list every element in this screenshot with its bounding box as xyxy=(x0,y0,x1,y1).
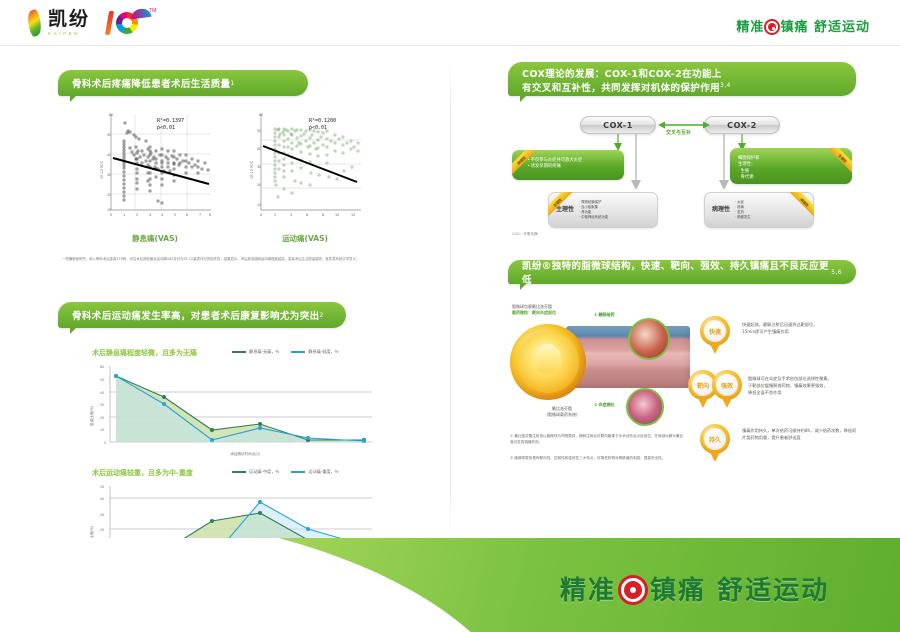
svg-text:40: 40 xyxy=(107,153,111,157)
scatter-rest-p: p<0.01 xyxy=(157,125,175,131)
item-1: 疼痛 xyxy=(737,205,744,209)
line-chart-rest-title: 术后静息痛程度轻微，且多为无痛 xyxy=(92,348,197,358)
svg-text:6: 6 xyxy=(306,213,308,217)
anniversary-10-icon: TM xyxy=(105,8,161,38)
drug-core-graphic xyxy=(535,344,561,374)
banner-section-3-ref: 3,4 xyxy=(720,82,731,89)
svg-text:10: 10 xyxy=(335,213,339,217)
ribbon-physiologic-right-text: 生理性 xyxy=(826,148,852,174)
line-chart-rest-svg: 605040 302010 0 2h4h12h 24h48h72h xyxy=(86,360,376,458)
leaf-icon xyxy=(25,9,45,38)
svg-text:30: 30 xyxy=(100,403,104,407)
header-slogan-part-a: 精准 xyxy=(736,20,764,35)
illustration-bottom-label: 氟比洛芬酯 (脂微球载药系统) xyxy=(522,406,602,418)
ribbon-pathologic-left-text: 病理性 xyxy=(512,150,538,176)
pin-tip-potent xyxy=(721,396,733,408)
scatter-rest-r2: R²=0.1397 xyxy=(157,118,184,124)
lipid-microsphere-graphic xyxy=(510,324,586,400)
bottom-label-line1: 氟比洛芬酯 xyxy=(552,406,572,411)
footer-curve-shape xyxy=(0,538,534,632)
page-footer: 精准镇痛 舒适运动 xyxy=(0,538,900,632)
illustration-note-2: ② 脂微球载体具有靶向性、控释性和强效性三大特点，可降低药物对胃肠道的刺激，提高… xyxy=(510,456,686,462)
item-0: 胃肠粘膜保护 xyxy=(581,200,601,204)
legend-swatch-green xyxy=(232,351,246,353)
legend-item-rest-mild: 静息痛-轻度，% xyxy=(291,349,338,355)
svg-text:1: 1 xyxy=(123,213,125,217)
svg-text:SF-12 PCS: SF-12 PCS xyxy=(100,161,104,178)
illustration-top-label: 脂微球包裹氟比洛芬酯 载药微粒：靶向炎症部位 xyxy=(512,304,588,316)
svg-text:40: 40 xyxy=(257,147,261,151)
scatter-points-group xyxy=(274,128,359,198)
svg-text:20: 20 xyxy=(100,528,104,532)
svg-text:2: 2 xyxy=(274,213,276,217)
cox2-pathologic-title: 病理性 xyxy=(712,206,730,215)
svg-text:20: 20 xyxy=(257,183,261,187)
banner-section-2-text: 骨科术后运动痛发生率高，对患者术后康复影响尤为突出 xyxy=(72,308,320,322)
banner-section-4-text: 凯纷®独特的脂微球结构，快速、靶向、强效、持久镇痛且不良反应更低 xyxy=(522,258,831,286)
pin-text-fast: 快速起效，静脉注射后迅速到达靶部位， 15min即可产生镇痛作用 xyxy=(742,322,860,336)
item-2: 肾功能 xyxy=(581,210,591,214)
footer-slogan-part-b: 镇痛 xyxy=(650,576,706,606)
svg-text:0: 0 xyxy=(260,213,262,217)
footer-slogan-part-a: 精准 xyxy=(560,576,616,606)
scatter-chart-movement-pain: 605040 302010 024 6810 12 SF-12 PCS R²=0… xyxy=(245,110,365,230)
ribbon-physiologic-left: 生理性 xyxy=(548,192,574,218)
svg-text:30: 30 xyxy=(107,173,111,177)
svg-text:0: 0 xyxy=(110,213,112,217)
line-chart-rest-ylabel: 患者比例(%) xyxy=(90,406,95,426)
ribbon-pathologic-left: 病理性 xyxy=(512,150,538,176)
legend-item-move-severe: 运动痛-重度，% xyxy=(291,469,338,475)
header-slogan: 精准镇痛 舒适运动 xyxy=(736,16,870,35)
svg-text:SF-12 PCS: SF-12 PCS xyxy=(250,161,254,178)
pin-text-targeted-potent: 脂微球可在炎症及手术创伤部位选择性聚集， 于靶部位缓慢释放药物，镇痛效果更强效，… xyxy=(748,376,864,397)
svg-text:4: 4 xyxy=(290,213,292,217)
item-1: 血小板聚集 xyxy=(581,205,598,209)
lipid-microsphere-illustration: 脂微球包裹氟比洛芬酯 载药微粒：靶向炎症部位 氟比洛芬酯 (脂微球载药系统) ①… xyxy=(508,292,688,442)
line-chart-rest-pain: 术后静息痛程度轻微，且多为无痛 静息痛-无痛，% 静息痛-轻度，% xyxy=(86,348,376,460)
digit-one-shape xyxy=(105,11,114,35)
svg-text:50: 50 xyxy=(107,133,111,137)
svg-text:50: 50 xyxy=(100,378,104,382)
scatter-movement-stats: R²=0.1200 p<0.01 xyxy=(309,118,336,132)
pin-tip-durable xyxy=(709,450,721,462)
svg-text:6: 6 xyxy=(186,213,188,217)
pin-tip-fast xyxy=(709,342,721,354)
brand-name-sub: KAIFEN xyxy=(48,31,90,36)
ribbon-pathologic-right-text: 病理性 xyxy=(788,192,814,218)
legend-item-move-moderate: 运动痛-中度，% xyxy=(232,469,279,475)
footer-target-bullseye-icon xyxy=(621,578,645,602)
legend-label-rest-none: 静息痛-无痛，% xyxy=(249,349,279,355)
svg-text:5: 5 xyxy=(174,213,176,217)
scatter-movement-r2: R²=0.1200 xyxy=(309,118,336,124)
item-2: 发热 xyxy=(737,210,744,214)
svg-text:3: 3 xyxy=(149,213,151,217)
target-bullseye-icon xyxy=(766,21,778,33)
svg-text:10: 10 xyxy=(107,208,111,212)
svg-text:50: 50 xyxy=(257,129,261,133)
svg-text:30: 30 xyxy=(100,513,104,517)
line-chart-rest-xlabel: 术后随访时间点(h) xyxy=(100,452,390,457)
item-3: 中枢神经系统功能 xyxy=(581,215,608,219)
svg-text:10: 10 xyxy=(100,428,104,432)
trademark-mark: TM xyxy=(149,8,156,14)
banner-section-2: 骨科术后运动痛发生率高，对患者术后康复影响尤为突出2 xyxy=(58,302,346,328)
svg-text:60: 60 xyxy=(109,113,113,117)
svg-text:40: 40 xyxy=(100,391,104,395)
line-chart-rest-legend: 静息痛-无痛，% 静息痛-轻度，% xyxy=(232,349,339,355)
scatter-points-group xyxy=(123,122,209,204)
pin-label-targeted: 靶向 xyxy=(692,374,714,396)
banner-section-4-ref: 5,6 xyxy=(831,269,842,276)
svg-text:10: 10 xyxy=(257,203,261,207)
ribbon-physiologic-left-text: 生理性 xyxy=(548,192,574,218)
cox-source-note: COX：环氧化酶 xyxy=(512,232,538,237)
svg-text:12: 12 xyxy=(351,213,355,217)
pin-marker-potent: 强效 xyxy=(712,370,742,408)
header-slogan-part-b: 镇痛 xyxy=(780,20,808,35)
scatter-movement-p: p<0.01 xyxy=(309,125,327,131)
legend-label-rest-mild: 静息痛-轻度，% xyxy=(308,349,338,355)
illustration-point-2: ② 炎症病灶 xyxy=(594,402,615,408)
top-label-line1: 脂微球包裹氟比洛芬酯 xyxy=(512,304,552,309)
svg-text:8: 8 xyxy=(209,213,211,217)
legend-swatch-blue xyxy=(291,471,305,473)
pin-label-potent: 强效 xyxy=(716,374,738,396)
header-slogan-part-c: 舒适运动 xyxy=(814,20,870,35)
top-label-line2: 载药微粒：靶向炎症部位 xyxy=(512,310,556,315)
column-divider xyxy=(450,58,451,538)
callout-vessel-closeup xyxy=(628,318,670,360)
footnote-section-1: 一项横断面研究，纳入骨科术后患者378例，评估术后静息痛及运动痛VAS评分与SF… xyxy=(62,257,372,262)
svg-text:8: 8 xyxy=(322,213,324,217)
banner-section-1: 骨科术后疼痛降低患者术后生活质量1 xyxy=(58,70,308,96)
item-3: 肿瘤发生 xyxy=(737,215,751,219)
scatter-rest-xlabel: 静息痛(VAS) xyxy=(95,233,215,244)
illustration-note-1: ① 氟比洛芬酯注射液以脂微球为药物载体，静脉注射后可靶向聚集于手术创伤及炎症部位… xyxy=(510,434,686,446)
banner-section-4: 凯纷®独特的脂微球结构，快速、靶向、强效、持久镇痛且不良反应更低5,6 xyxy=(508,260,856,284)
legend-label-move-moderate: 运动痛-中度，% xyxy=(249,469,279,475)
legend-label-move-severe: 运动痛-重度，% xyxy=(308,469,338,475)
legend-swatch-blue xyxy=(291,351,305,353)
svg-text:20: 20 xyxy=(107,193,111,197)
cox-diagram: COX-1 COX-2 交叉与互补 • 不仅参与炎症并可放大炎症 • 诱发早期的… xyxy=(508,110,856,240)
bottom-label-line2: (脂微球载药系统) xyxy=(546,412,577,417)
svg-text:20: 20 xyxy=(100,416,104,420)
scatter-rest-stats: R²=0.1397 p<0.01 xyxy=(157,118,184,132)
illustration-note-2-text: ② 脂微球载体具有靶向性、控释性和强效性三大特点，可降低药物对胃肠道的刺激，提高… xyxy=(510,456,665,460)
banner-section-3-line1: COX理论的发展：COX-1和COX-2在功能上 xyxy=(522,69,722,80)
ribbon-pathologic-right: 病理性 xyxy=(788,192,814,218)
ribbon-physiologic-right: 生理性 xyxy=(826,148,852,174)
poster-page: 凯纷 KAIFEN TM 精准镇痛 舒适运动 骨科术后疼痛降低患者术后生活质量1 xyxy=(0,0,900,632)
page-header: 凯纷 KAIFEN TM 精准镇痛 舒适运动 xyxy=(0,0,900,46)
item-0: 炎症 xyxy=(737,200,744,204)
scatter-chart-rest-pain: 605040 302010 012 345 678 SF-12 PCS R²=0… xyxy=(95,110,215,230)
illustration-point-1: ① 静脉给药 xyxy=(594,312,615,318)
banner-section-2-ref: 2 xyxy=(320,312,324,319)
scatter-chart-rest-pain-svg: 605040 302010 012 345 678 SF-12 PCS xyxy=(95,110,215,230)
legend-item-rest-none: 静息痛-无痛，% xyxy=(232,349,279,355)
line-chart-movement-title: 术后运动痛较重，且多为中-重度 xyxy=(92,468,193,478)
footer-slogan-part-c: 舒适运动 xyxy=(717,576,829,606)
legend-swatch-green xyxy=(232,471,246,473)
pin-marker-fast: 快速 xyxy=(700,316,730,354)
scatter-chart-movement-pain-svg: 605040 302010 024 6810 12 SF-12 PCS xyxy=(245,110,365,230)
illustration-note-1-text: ① 氟比洛芬酯注射液以脂微球为药物载体，静脉注射后可靶向聚集于手术创伤及炎症部位… xyxy=(510,434,683,444)
callout-inflammation-closeup xyxy=(626,388,664,426)
banner-section-3-line2: 有交叉和互补性，共同发挥对机体的保护作用 xyxy=(522,83,720,94)
svg-text:40: 40 xyxy=(100,497,104,501)
pin-tip-targeted xyxy=(697,396,709,408)
svg-text:60: 60 xyxy=(259,113,263,117)
pin-marker-durable: 持久 xyxy=(700,424,730,462)
brand-name-cn: 凯纷 xyxy=(48,10,90,29)
pin-label-durable: 持久 xyxy=(704,428,726,450)
banner-section-1-text: 骨科术后疼痛降低患者术后生活质量 xyxy=(72,76,230,90)
brand-logo: 凯纷 KAIFEN TM xyxy=(28,8,161,38)
cox1-physiologic-items: · 胃肠粘膜保护 · 血小板聚集 · 肾功能 · 中枢神经系统功能 xyxy=(579,200,608,220)
pin-text-durable: 镇痛作用持久，单次给药可维持约8h，减少给药次数，降低阿片类药物用量，提升患者舒… xyxy=(742,428,860,442)
svg-text:0: 0 xyxy=(104,441,106,445)
footer-slogan: 精准镇痛 舒适运动 xyxy=(560,570,829,607)
svg-text:4: 4 xyxy=(161,213,163,217)
svg-text:50: 50 xyxy=(100,485,104,489)
svg-text:2: 2 xyxy=(136,213,138,217)
cox2-pathologic-items: · 炎症 · 疼痛 · 发热 · 肿瘤发生 xyxy=(735,200,751,220)
pin-label-fast: 快速 xyxy=(704,320,726,342)
banner-section-1-ref: 1 xyxy=(230,80,234,87)
svg-text:30: 30 xyxy=(257,165,261,169)
svg-text:7: 7 xyxy=(199,213,201,217)
scatter-movement-xlabel: 运动痛(VAS) xyxy=(245,233,365,244)
line-chart-movement-legend: 运动痛-中度，% 运动痛-重度，% xyxy=(232,469,339,475)
svg-text:60: 60 xyxy=(100,365,104,369)
banner-section-3: COX理论的发展：COX-1和COX-2在功能上 有交叉和互补性，共同发挥对机体… xyxy=(508,62,856,96)
